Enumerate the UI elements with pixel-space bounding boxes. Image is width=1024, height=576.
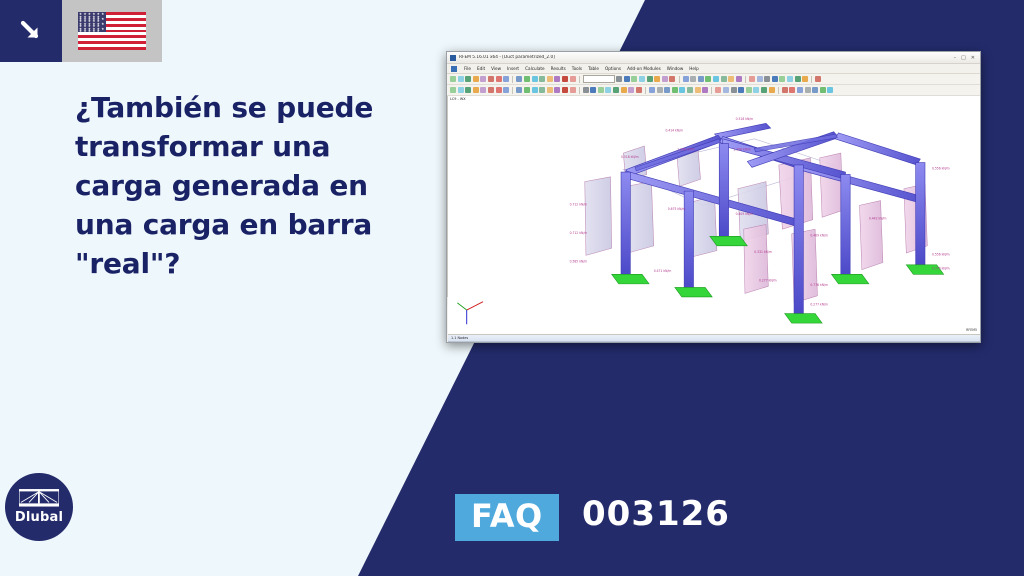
toolbar-button[interactable] bbox=[605, 87, 611, 93]
toolbar-button[interactable] bbox=[687, 87, 693, 93]
toolbar-button[interactable] bbox=[624, 76, 630, 82]
toolbar-button[interactable] bbox=[547, 76, 553, 82]
menu-item-table[interactable]: Table bbox=[588, 66, 599, 71]
svg-text:0.675 kN/m: 0.675 kN/m bbox=[668, 207, 686, 211]
svg-text:0.442 kN/m: 0.442 kN/m bbox=[869, 217, 887, 221]
faq-label: FAQ bbox=[455, 494, 559, 541]
toolbar-button[interactable] bbox=[761, 87, 767, 93]
toolbar-button[interactable] bbox=[664, 87, 670, 93]
toolbar-button[interactable] bbox=[721, 76, 727, 82]
toolbar-button[interactable] bbox=[488, 76, 494, 82]
faq-number: 003126 bbox=[582, 494, 730, 534]
toolbar-button[interactable] bbox=[728, 76, 734, 82]
toolbar-button[interactable] bbox=[647, 76, 653, 82]
toolbar-button[interactable] bbox=[815, 76, 821, 82]
menu-item-options[interactable]: Options bbox=[605, 66, 621, 71]
document-icon bbox=[451, 66, 457, 72]
svg-text:1.166 kN/m: 1.166 kN/m bbox=[677, 148, 695, 152]
dlubal-logo: Dlubal bbox=[5, 473, 73, 541]
viewport-load-case-label: LC9 - WX bbox=[450, 97, 465, 101]
toolbar-button[interactable] bbox=[458, 76, 464, 82]
toolbar-button[interactable] bbox=[820, 87, 826, 93]
arrow-badge bbox=[0, 0, 62, 62]
toolbar-button[interactable] bbox=[636, 87, 642, 93]
minimize-button[interactable]: – bbox=[954, 55, 957, 61]
toolbar-button[interactable] bbox=[554, 87, 560, 93]
toolbar-button[interactable] bbox=[723, 87, 729, 93]
toolbar-primary[interactable] bbox=[447, 74, 980, 85]
rfem-application-window[interactable]: RFEM 5.16.01 x64 - [Duct parametrized_2.… bbox=[446, 51, 981, 343]
toolbar-button[interactable] bbox=[458, 87, 464, 93]
arrow-down-right-icon bbox=[16, 16, 46, 46]
maximize-button[interactable]: □ bbox=[961, 55, 966, 61]
toolbar-button[interactable] bbox=[631, 76, 637, 82]
structural-model-render: 0.712 kN/m 0.712 kN/m 0.585 kN/m 0.471 k… bbox=[448, 96, 980, 334]
toolbar-button[interactable] bbox=[473, 76, 479, 82]
toolbar-button[interactable] bbox=[524, 87, 530, 93]
svg-text:0.776 kN/m: 0.776 kN/m bbox=[932, 267, 950, 271]
toolbar-button[interactable] bbox=[516, 87, 522, 93]
window-buttons[interactable]: – □ ✕ bbox=[954, 55, 977, 61]
svg-text:0.471 kN/m: 0.471 kN/m bbox=[654, 269, 672, 273]
toolbar-button[interactable] bbox=[488, 87, 494, 93]
toolbar-separator bbox=[711, 87, 712, 94]
page-title: ¿También se puede transformar una carga … bbox=[75, 88, 415, 283]
toolbar-button[interactable] bbox=[590, 87, 596, 93]
menu-item-edit[interactable]: Edit bbox=[477, 66, 485, 71]
window-title: RFEM 5.16.01 x64 - [Duct parametrized_2.… bbox=[459, 55, 954, 60]
toolbar-zoom-combo[interactable] bbox=[583, 75, 615, 84]
toolbar-button[interactable] bbox=[583, 87, 589, 93]
toolbar-button[interactable] bbox=[554, 76, 560, 82]
toolbar-button[interactable] bbox=[738, 87, 744, 93]
menu-item-tools[interactable]: Tools bbox=[572, 66, 582, 71]
toolbar-button[interactable] bbox=[787, 76, 793, 82]
svg-text:0.409 kN/m: 0.409 kN/m bbox=[736, 212, 754, 216]
svg-text:0.331 kN/m: 0.331 kN/m bbox=[754, 250, 772, 254]
toolbar-button[interactable] bbox=[746, 87, 752, 93]
table-panel-title: 1.1 Nodes bbox=[448, 335, 980, 342]
toolbar-button[interactable] bbox=[539, 87, 545, 93]
toolbar-button[interactable] bbox=[753, 87, 759, 93]
svg-text:0.776 kN/m: 0.776 kN/m bbox=[810, 283, 828, 287]
toolbar-separator bbox=[745, 76, 746, 83]
svg-text:0.277 kN/m: 0.277 kN/m bbox=[810, 302, 828, 306]
toolbar-button[interactable] bbox=[539, 76, 545, 82]
toolbar-button[interactable] bbox=[679, 87, 685, 93]
toolbar-button[interactable] bbox=[621, 87, 627, 93]
toolbar-separator bbox=[512, 87, 513, 94]
toolbar-button[interactable] bbox=[598, 87, 604, 93]
xyz-axis-icon bbox=[457, 302, 483, 325]
rfem-app-icon bbox=[450, 55, 456, 61]
svg-text:0.409 kN/m: 0.409 kN/m bbox=[810, 233, 828, 237]
toolbar-button[interactable] bbox=[797, 87, 803, 93]
toolbar-button[interactable] bbox=[616, 76, 622, 82]
workspace-column: LC9 - WX RFEM5 bbox=[448, 96, 980, 296]
menu-item-help[interactable]: Help bbox=[689, 66, 699, 71]
toolbar-button[interactable] bbox=[496, 87, 502, 93]
menu-item-insert[interactable]: Insert bbox=[507, 66, 519, 71]
svg-text:0.414 kN/m: 0.414 kN/m bbox=[665, 129, 683, 133]
toolbar-button[interactable] bbox=[662, 76, 668, 82]
toolbar-separator bbox=[679, 76, 680, 83]
toolbar-button[interactable] bbox=[570, 87, 576, 93]
menu-item-view[interactable]: View bbox=[491, 66, 501, 71]
svg-text:0.556 kN/m: 0.556 kN/m bbox=[932, 167, 950, 171]
us-flag-icon: ★★★★★★ ★★★★★ ★★★★★★ ★★★★★ ★★★★★★ ★★★★★ ★… bbox=[78, 12, 146, 50]
toolbar-separator bbox=[579, 87, 580, 94]
toolbar-button[interactable] bbox=[480, 87, 486, 93]
toolbar-button[interactable] bbox=[516, 76, 522, 82]
toolbar-button[interactable] bbox=[757, 76, 763, 82]
model-viewport[interactable]: LC9 - WX RFEM5 bbox=[448, 96, 980, 335]
toolbar-button[interactable] bbox=[480, 76, 486, 82]
toolbar-button[interactable] bbox=[547, 87, 553, 93]
svg-text:0.518 kN/m: 0.518 kN/m bbox=[736, 117, 754, 121]
window-body: Project Navigator - Display ⊞Imperfectio… bbox=[447, 96, 980, 296]
toolbar-button[interactable] bbox=[628, 87, 634, 93]
toolbar-button[interactable] bbox=[657, 87, 663, 93]
toolbar-button[interactable] bbox=[672, 87, 678, 93]
toolbar-button[interactable] bbox=[639, 76, 645, 82]
toolbar-button[interactable] bbox=[503, 76, 509, 82]
toolbar-button[interactable] bbox=[705, 76, 711, 82]
table-toolbar[interactable] bbox=[448, 342, 980, 343]
toolbar-button[interactable] bbox=[782, 87, 788, 93]
toolbar-button[interactable] bbox=[683, 76, 689, 82]
menu-item-file[interactable]: File bbox=[464, 66, 471, 71]
toolbar-button[interactable] bbox=[562, 76, 568, 82]
toolbar-button[interactable] bbox=[731, 87, 737, 93]
toolbar-button[interactable] bbox=[690, 76, 696, 82]
toolbar-button[interactable] bbox=[698, 76, 704, 82]
svg-text:0.277 kN/m: 0.277 kN/m bbox=[759, 278, 777, 282]
close-button[interactable]: ✕ bbox=[971, 55, 975, 61]
toolbar-button[interactable] bbox=[649, 87, 655, 93]
toolbar-button[interactable] bbox=[764, 76, 770, 82]
toolbar-button[interactable] bbox=[715, 87, 721, 93]
svg-text:0.518 kN/m: 0.518 kN/m bbox=[621, 155, 639, 159]
toolbar-button[interactable] bbox=[769, 87, 775, 93]
toolbar-button[interactable] bbox=[562, 87, 568, 93]
table-panel[interactable]: 1.1 Nodes A B bbox=[448, 335, 980, 343]
toolbar-button[interactable] bbox=[532, 87, 538, 93]
toolbar-button[interactable] bbox=[532, 76, 538, 82]
svg-text:0.712 kN/m: 0.712 kN/m bbox=[570, 231, 588, 235]
toolbar-button[interactable] bbox=[570, 76, 576, 82]
toolbar-button[interactable] bbox=[702, 87, 708, 93]
toolbar-button[interactable] bbox=[695, 87, 701, 93]
toolbar-button[interactable] bbox=[812, 87, 818, 93]
toolbar-separator bbox=[645, 87, 646, 94]
toolbar-separator bbox=[811, 76, 812, 83]
toolbar-button[interactable] bbox=[802, 76, 808, 82]
toolbar-secondary[interactable] bbox=[447, 85, 980, 96]
toolbar-separator bbox=[778, 87, 779, 94]
svg-text:0.712 kN/m: 0.712 kN/m bbox=[570, 202, 588, 206]
toolbar-button[interactable] bbox=[713, 76, 719, 82]
svg-text:0.556 kN/m: 0.556 kN/m bbox=[932, 252, 950, 256]
toolbar-button[interactable] bbox=[613, 87, 619, 93]
toolbar-button[interactable] bbox=[779, 76, 785, 82]
toolbar-button[interactable] bbox=[654, 76, 660, 82]
toolbar-button[interactable] bbox=[736, 76, 742, 82]
toolbar-button[interactable] bbox=[496, 76, 502, 82]
toolbar-button[interactable] bbox=[450, 87, 456, 93]
bridge-truss-icon bbox=[19, 489, 59, 508]
menu-bar[interactable]: File Edit View Insert Calculate Results … bbox=[447, 64, 980, 74]
toolbar-button[interactable] bbox=[805, 87, 811, 93]
menu-item-window[interactable]: Window bbox=[667, 66, 684, 71]
toolbar-button[interactable] bbox=[772, 76, 778, 82]
toolbar-button[interactable] bbox=[827, 87, 833, 93]
dlubal-wordmark: Dlubal bbox=[15, 510, 63, 525]
toolbar-button[interactable] bbox=[450, 76, 456, 82]
menu-item-results[interactable]: Results bbox=[551, 66, 566, 71]
toolbar-separator bbox=[512, 76, 513, 83]
toolbar-button[interactable] bbox=[749, 76, 755, 82]
language-flag-badge: ★★★★★★ ★★★★★ ★★★★★★ ★★★★★ ★★★★★★ ★★★★★ ★… bbox=[62, 0, 162, 62]
window-titlebar: RFEM 5.16.01 x64 - [Duct parametrized_2.… bbox=[447, 52, 980, 64]
toolbar-button[interactable] bbox=[473, 87, 479, 93]
svg-text:0.585 kN/m: 0.585 kN/m bbox=[570, 259, 588, 263]
viewport-corner-label: RFEM5 bbox=[966, 328, 977, 332]
menu-item-calculate[interactable]: Calculate bbox=[525, 66, 545, 71]
toolbar-separator bbox=[579, 76, 580, 83]
toolbar-button[interactable] bbox=[465, 76, 471, 82]
poster-stage: ★★★★★★ ★★★★★ ★★★★★★ ★★★★★ ★★★★★★ ★★★★★ ★… bbox=[0, 0, 1024, 576]
toolbar-button[interactable] bbox=[795, 76, 801, 82]
svg-text:1.166 kN/m: 1.166 kN/m bbox=[733, 148, 751, 152]
menu-item-addon-modules[interactable]: Add-on Modules bbox=[627, 66, 661, 71]
toolbar-button[interactable] bbox=[524, 76, 530, 82]
toolbar-button[interactable] bbox=[465, 87, 471, 93]
toolbar-button[interactable] bbox=[789, 87, 795, 93]
toolbar-button[interactable] bbox=[669, 76, 675, 82]
toolbar-button[interactable] bbox=[503, 87, 509, 93]
